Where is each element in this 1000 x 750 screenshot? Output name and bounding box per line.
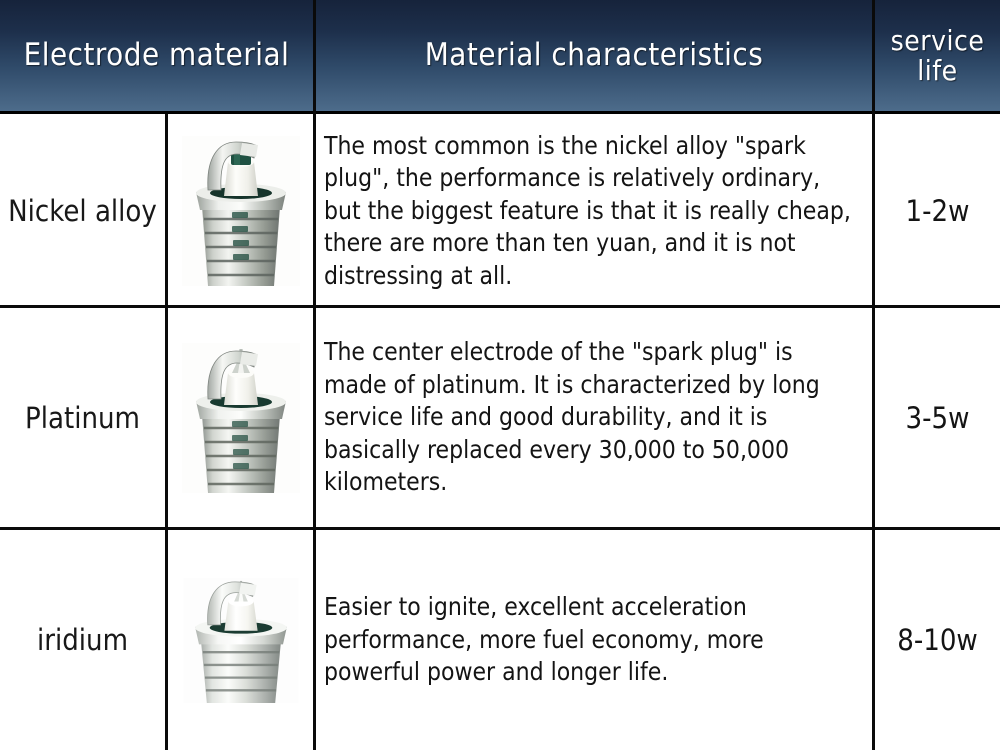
characteristics-text: The center electrode of the "spark plug"… (324, 336, 862, 499)
column-header-service-life: servicelife (875, 0, 1000, 111)
table-row-material-name: iridium (0, 530, 165, 750)
table-row-service-life: 8-10w (875, 530, 1000, 750)
table-row-service-life: 3-5w (875, 308, 1000, 527)
spark-plug-nickel-icon (182, 136, 300, 286)
column-header-electrode-material: Electrode material (0, 0, 313, 111)
table-row-image-cell (168, 308, 313, 527)
characteristics-text: Easier to ignite, excellent acceleration… (324, 591, 862, 689)
table-row-characteristics: The most common is the nickel alloy "spa… (316, 117, 872, 305)
electrode-material-table: Electrode material Material characterist… (0, 0, 1000, 750)
table-header: Electrode material Material characterist… (0, 0, 1000, 114)
table-row-characteristics: The center electrode of the "spark plug"… (316, 308, 872, 527)
characteristics-text: The most common is the nickel alloy "spa… (324, 130, 862, 293)
spark-plug-iridium-icon (182, 578, 300, 703)
column-header-material-characteristics: Material characteristics (316, 0, 872, 111)
table-row-material-name: Platinum (0, 308, 165, 527)
spark-plug-platinum-icon (182, 343, 300, 493)
table-row-image-cell (168, 530, 313, 750)
table-row-service-life: 1-2w (875, 117, 1000, 305)
column-header-service-life-text: servicelife (891, 26, 985, 85)
table-row-image-cell (168, 117, 313, 305)
table-row-material-name: Nickel alloy (0, 117, 165, 305)
table-row-characteristics: Easier to ignite, excellent acceleration… (316, 530, 872, 750)
